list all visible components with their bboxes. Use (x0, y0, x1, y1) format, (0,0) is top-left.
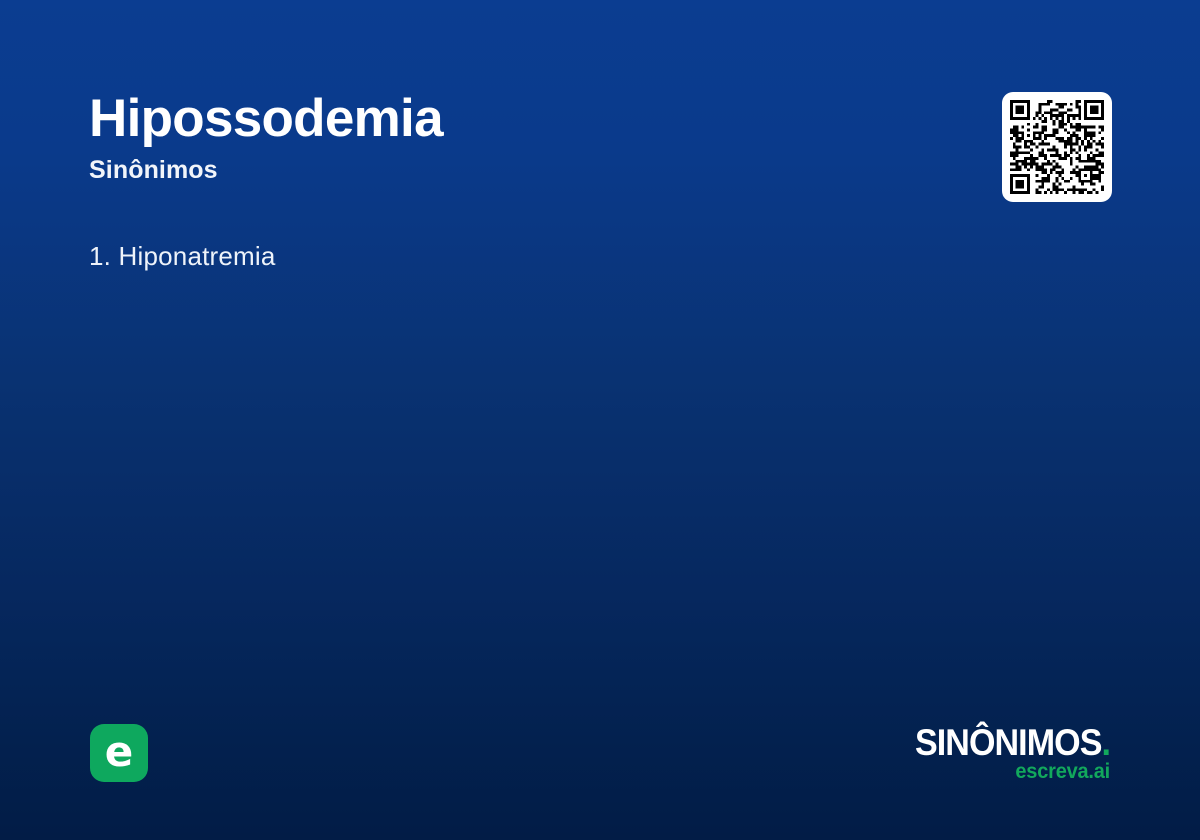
escreva-logo-letter: e (105, 731, 134, 773)
brand-name-secondary: escreva.ai (909, 761, 1110, 782)
page-title: Hipossodemia (89, 90, 443, 147)
brand-logo[interactable]: SINÔNIMOS. escreva.ai (898, 726, 1110, 782)
brand-name-primary: SINÔNIMOS. (915, 726, 1110, 760)
synonym-list: 1. Hiponatremia (89, 238, 276, 276)
synonym-card: Hipossodemia Sinônimos 1. Hiponatremia e… (0, 0, 1200, 840)
header: Hipossodemia Sinônimos (89, 90, 443, 185)
qr-code[interactable] (1002, 92, 1112, 202)
page-subtitle: Sinônimos (89, 155, 443, 185)
brand-name-text: SINÔNIMOS (915, 722, 1102, 763)
list-item: 1. Hiponatremia (89, 238, 276, 276)
qr-code-image (1010, 100, 1104, 194)
brand-dot-icon: . (1101, 722, 1110, 763)
escreva-logo-badge[interactable]: e (90, 724, 148, 782)
